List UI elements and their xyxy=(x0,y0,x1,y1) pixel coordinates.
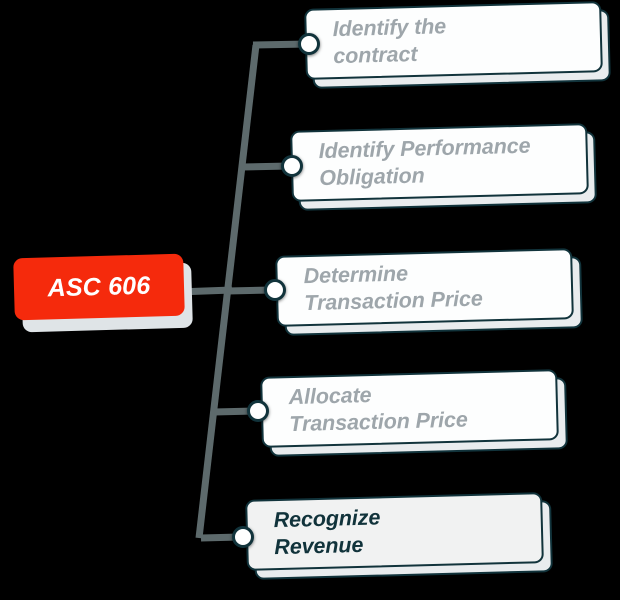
step-box-1[interactable]: Identify the contract xyxy=(304,1,603,80)
step-node-5[interactable] xyxy=(232,526,254,548)
diagram-canvas: ASC 606 Identify the contract Identify P… xyxy=(0,0,620,600)
step-box-1-label: Identify the contract xyxy=(332,13,447,68)
step-box-2[interactable]: Identify Performance Obligation xyxy=(290,123,589,202)
step-node-1[interactable] xyxy=(298,33,320,55)
step-box-5[interactable]: Recognize Revenue xyxy=(245,492,544,571)
root-box-asc-606[interactable]: ASC 606 xyxy=(13,254,185,321)
step-box-3[interactable]: Determine Transaction Price xyxy=(275,248,574,327)
root-box-label: ASC 606 xyxy=(47,271,151,303)
step-box-3-label: Determine Transaction Price xyxy=(303,259,483,316)
step-box-2-label: Identify Performance Obligation xyxy=(318,133,531,191)
step-box-4[interactable]: Allocate Transaction Price xyxy=(260,369,559,448)
step-box-5-label: Recognize Revenue xyxy=(273,505,381,560)
step-node-4[interactable] xyxy=(247,400,269,422)
step-node-3[interactable] xyxy=(264,279,286,301)
step-node-2[interactable] xyxy=(281,155,303,177)
step-box-4-label: Allocate Transaction Price xyxy=(288,380,468,437)
trunk-line xyxy=(199,45,256,538)
